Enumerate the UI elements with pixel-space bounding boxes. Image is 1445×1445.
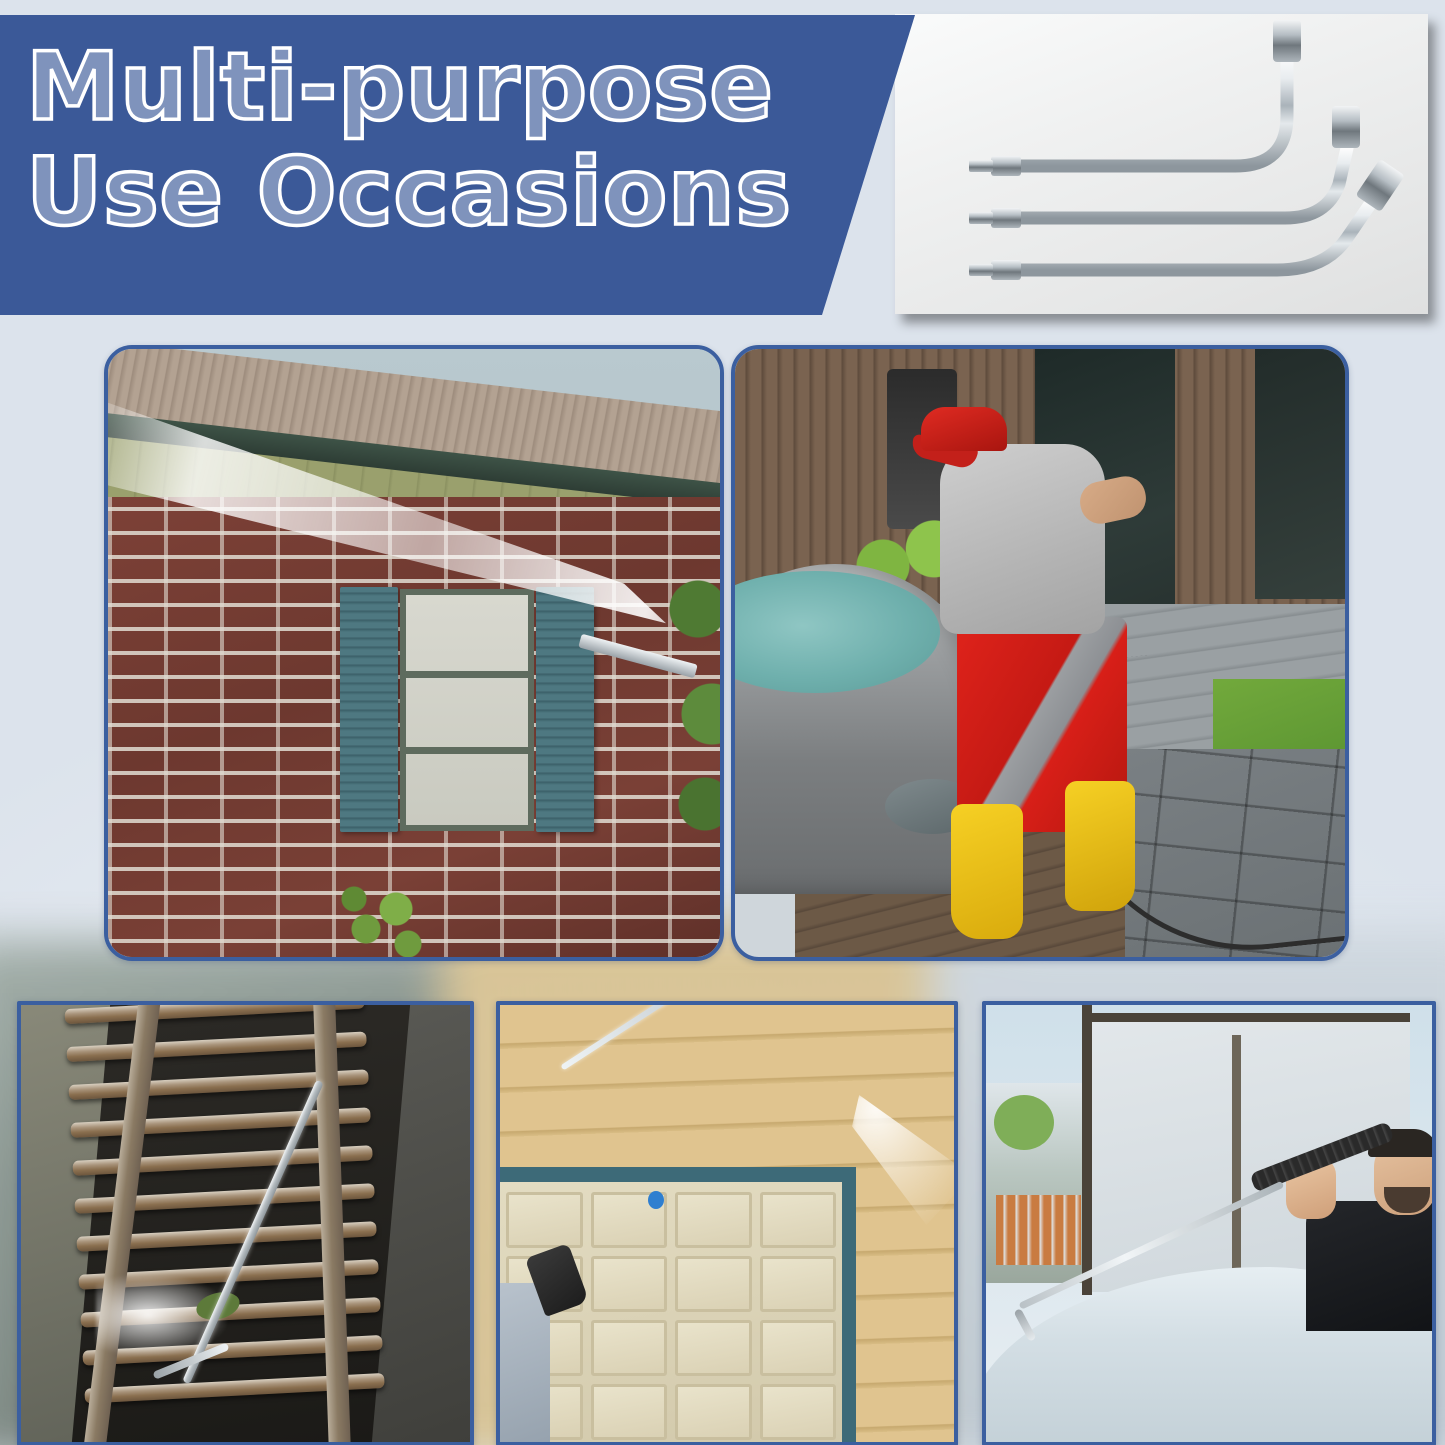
product-wands-illustration — [895, 14, 1428, 314]
wand-30-quick-connect — [969, 264, 993, 276]
product-panel — [895, 14, 1428, 314]
photo-tile-vehicle-roof — [982, 1001, 1436, 1445]
scene-vehicle-roof — [986, 1005, 1432, 1442]
photo-tile-hot-tub-deck — [731, 345, 1349, 961]
worker-red-cap — [921, 407, 1007, 451]
wand-90-hex-nut — [991, 156, 1021, 176]
door-trim-top — [500, 1167, 848, 1182]
worker-boot-right — [1065, 781, 1135, 911]
shrub — [318, 869, 438, 961]
window — [400, 589, 534, 831]
window-shutter-right — [536, 587, 594, 832]
panel-frame — [1082, 1005, 1092, 1295]
blue-marker — [648, 1191, 664, 1209]
wand-45-quick-connect — [969, 212, 993, 224]
tree-foliage — [656, 549, 724, 849]
wand-45-tip-coupler — [1332, 106, 1360, 148]
glass-window — [1255, 349, 1349, 599]
wand-30-hex-nut — [991, 260, 1021, 280]
worker-shirt — [940, 444, 1105, 634]
panel-mullion — [1232, 1035, 1241, 1285]
background-tree — [994, 1095, 1054, 1150]
garage-panel-row — [506, 1384, 836, 1440]
door-trim-side — [840, 1167, 856, 1445]
title-banner: Multi-purpose Use Occasions — [0, 15, 915, 315]
operator-jacket — [1306, 1201, 1436, 1331]
garage-panel-row — [506, 1320, 836, 1376]
window-shutter-left — [340, 587, 398, 832]
wand-90-degree — [969, 20, 1301, 176]
photo-tile-brick-house — [104, 345, 724, 961]
background-crates — [996, 1195, 1081, 1265]
worker-boot-left — [951, 804, 1023, 939]
garage-panel-row — [506, 1192, 836, 1248]
scene-brick-house — [108, 349, 720, 957]
marketing-image-root: Multi-purpose Use Occasions — [0, 0, 1445, 1445]
page-title: Multi-purpose Use Occasions — [26, 35, 856, 246]
wand-45-hex-nut — [991, 208, 1021, 228]
photo-tile-garage-door — [496, 1001, 958, 1445]
header: Multi-purpose Use Occasions — [0, 0, 1445, 330]
wand-90-quick-connect — [969, 160, 993, 172]
photo-tile-rusty-grate — [17, 1001, 474, 1445]
scene-rusty-grate — [21, 1005, 470, 1442]
scene-hot-tub-deck — [735, 349, 1345, 957]
wand-svg — [895, 14, 1428, 314]
scene-garage-door — [500, 1005, 954, 1442]
wand-90-tip-coupler — [1273, 20, 1301, 62]
